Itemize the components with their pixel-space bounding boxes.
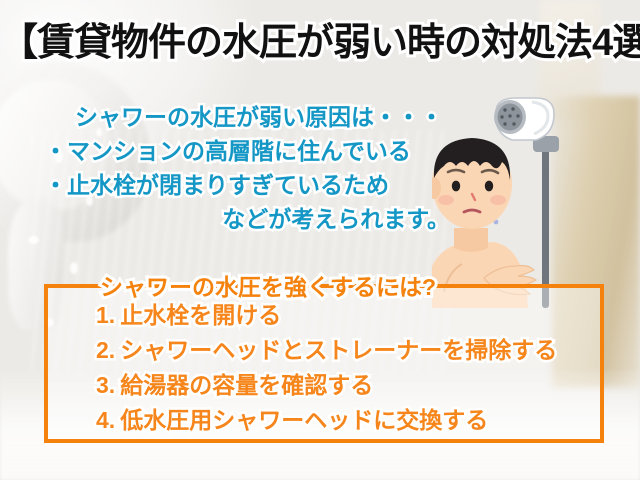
cause-item: ・マンションの高層階に住んでいる xyxy=(44,134,464,168)
list-item-number: 2. xyxy=(96,337,115,363)
list-item-number: 4. xyxy=(96,407,115,433)
eye-right xyxy=(485,181,493,192)
cause-item: ・止水栓が閉まりすぎているため xyxy=(44,168,464,202)
list-item: 3.給湯器の容量を確認する xyxy=(96,368,596,403)
list-item-label: シャワーヘッドとストレーナーを掃除する xyxy=(120,337,557,363)
list-item-number: 3. xyxy=(96,372,115,398)
cheek-right xyxy=(490,195,506,205)
list-item: 2.シャワーヘッドとストレーナーを掃除する xyxy=(96,333,596,368)
solution-list: 1.止水栓を開ける 2.シャワーヘッドとストレーナーを掃除する 3.給湯器の容量… xyxy=(96,298,596,438)
list-item-label: 低水圧用シャワーヘッドに交換する xyxy=(120,407,488,433)
causes-block: シャワーの水圧が弱い原因は・・・ ・マンションの高層階に住んでいる ・止水栓が閉… xyxy=(44,100,464,236)
background-droplet xyxy=(28,236,39,244)
background-droplet xyxy=(70,262,78,274)
list-item: 1.止水栓を開ける xyxy=(96,298,596,333)
list-item-number: 1. xyxy=(96,302,115,328)
slide-canvas: 【賃貸物件の水圧が弱い時の対処法4選】 シャワーの水圧が弱い原因は・・・ ・マン… xyxy=(0,0,640,480)
causes-heading: シャワーの水圧が弱い原因は・・・ xyxy=(44,100,464,134)
list-item: 4.低水圧用シャワーヘッドに交換する xyxy=(96,403,596,438)
list-item-label: 止水栓を開ける xyxy=(120,302,281,328)
solution-box-heading: シャワーの水圧を強くするには? xyxy=(100,268,436,302)
list-item-label: 給湯器の容量を確認する xyxy=(120,372,373,398)
causes-closing: などが考えられます。 xyxy=(44,202,464,236)
page-title: 【賃貸物件の水圧が弱い時の対処法4選】 xyxy=(0,24,640,64)
handheld-shower-head xyxy=(494,98,554,140)
